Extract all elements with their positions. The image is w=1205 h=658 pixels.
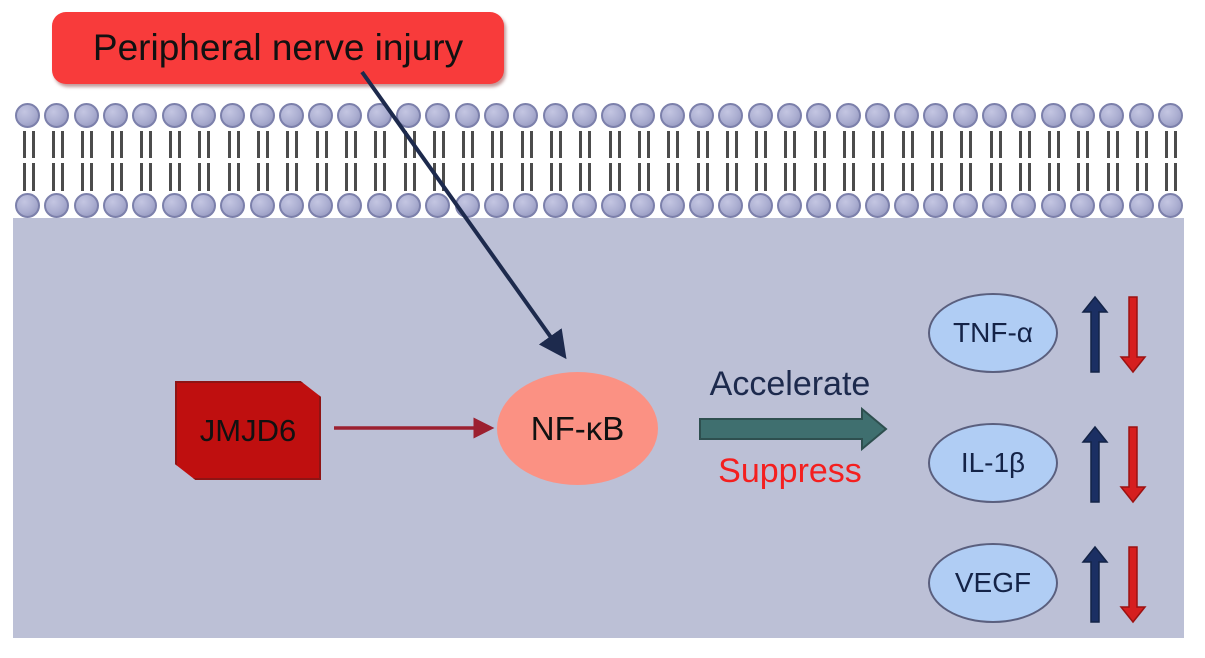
lipid-tail <box>207 131 210 158</box>
lipid-tail <box>81 163 84 191</box>
lipid-tail <box>325 131 328 158</box>
suppress-label: Suppress <box>688 452 892 491</box>
lipid-tail <box>433 131 436 158</box>
lipid-tail <box>530 131 533 158</box>
lipid-head <box>1158 193 1183 218</box>
lipid-tail <box>784 163 787 191</box>
lipid-tail <box>32 131 35 158</box>
lipid-tail <box>793 131 796 158</box>
lipid-tail <box>354 163 357 191</box>
lipid-tail <box>1077 131 1080 158</box>
lipid-tail <box>1116 131 1119 158</box>
lipid-tail <box>442 163 445 191</box>
lipid-tail <box>1116 163 1119 191</box>
lipid-head <box>982 103 1007 128</box>
pathway-diagram: Peripheral nerve injury JMJD6 NF-κB Acce… <box>0 0 1205 658</box>
lipid-tail <box>902 163 905 191</box>
lipid-tail <box>579 131 582 158</box>
lipid-head <box>44 193 69 218</box>
lipid-head <box>162 193 187 218</box>
lipid-tail <box>521 131 524 158</box>
lipid-head <box>865 103 890 128</box>
lipid-tail <box>500 131 503 158</box>
lipid-head <box>162 103 187 128</box>
lipid-tail <box>1136 131 1139 158</box>
lipid-head <box>15 103 40 128</box>
lipid-head <box>250 103 275 128</box>
lipid-tail <box>266 131 269 158</box>
lipid-tail <box>1107 131 1110 158</box>
lipid-tail <box>726 163 729 191</box>
lipid-tail <box>697 131 700 158</box>
tnf-alpha-node: TNF-α <box>928 293 1058 373</box>
lipid-head <box>806 103 831 128</box>
lipid-tail <box>491 163 494 191</box>
lipid-tail <box>383 163 386 191</box>
lipid-head <box>1041 193 1066 218</box>
lipid-tail <box>169 131 172 158</box>
lipid-tail <box>23 131 26 158</box>
lipid-head <box>250 193 275 218</box>
lipid-tail <box>169 163 172 191</box>
lipid-head <box>748 103 773 128</box>
lipid-tail <box>442 131 445 158</box>
lipid-tail <box>969 131 972 158</box>
lipid-tail <box>902 131 905 158</box>
lipid-tail <box>706 131 709 158</box>
lipid-head <box>1158 103 1183 128</box>
lipid-tail <box>295 131 298 158</box>
lipid-tail <box>843 131 846 158</box>
lipid-tail <box>1165 163 1168 191</box>
lipid-tail <box>404 131 407 158</box>
lipid-tail <box>491 131 494 158</box>
lipid-tail <box>588 131 591 158</box>
lipid-tail <box>609 131 612 158</box>
lipid-tail <box>940 163 943 191</box>
lipid-tail <box>111 131 114 158</box>
lipid-tail <box>550 131 553 158</box>
lipid-tail <box>676 163 679 191</box>
lipid-head <box>777 193 802 218</box>
lipid-head <box>1011 103 1036 128</box>
lipid-tail <box>433 163 436 191</box>
lipid-head <box>1129 193 1154 218</box>
lipid-tail <box>178 163 181 191</box>
vegf-label: VEGF <box>955 567 1031 599</box>
lipid-tail <box>960 131 963 158</box>
lipid-tail <box>1057 131 1060 158</box>
lipid-tail <box>706 163 709 191</box>
lipid-head <box>923 193 948 218</box>
lipid-head <box>337 103 362 128</box>
lipid-tail <box>178 131 181 158</box>
vegf-node: VEGF <box>928 543 1058 623</box>
lipid-tail <box>814 131 817 158</box>
jmjd6-node: JMJD6 <box>175 381 321 480</box>
lipid-head <box>1099 193 1124 218</box>
lipid-tail <box>413 163 416 191</box>
lipid-tail <box>1174 163 1177 191</box>
lipid-head <box>220 193 245 218</box>
lipid-tail <box>52 131 55 158</box>
lipid-tail <box>52 163 55 191</box>
lipid-head <box>396 103 421 128</box>
lipid-tail <box>228 163 231 191</box>
lipid-head <box>74 103 99 128</box>
lipid-tail <box>784 131 787 158</box>
lipid-tail <box>149 131 152 158</box>
lipid-head <box>103 193 128 218</box>
lipid-head <box>865 193 890 218</box>
lipid-head <box>484 103 509 128</box>
lipid-head <box>367 103 392 128</box>
lipid-head <box>748 193 773 218</box>
lipid-head <box>191 193 216 218</box>
lipid-tail <box>462 163 465 191</box>
lipid-tail <box>354 131 357 158</box>
lipid-head <box>455 103 480 128</box>
lipid-tail <box>198 163 201 191</box>
lipid-tail <box>345 131 348 158</box>
lipid-head <box>425 103 450 128</box>
lipid-head <box>836 193 861 218</box>
lipid-tail <box>1019 163 1022 191</box>
lipid-tail <box>207 163 210 191</box>
lipid-tail <box>793 163 796 191</box>
lipid-head <box>1070 193 1095 218</box>
lipid-tail <box>61 163 64 191</box>
lipid-head <box>982 193 1007 218</box>
nfkb-node: NF-κB <box>497 372 658 485</box>
lipid-tail <box>530 163 533 191</box>
lipid-head <box>308 103 333 128</box>
lipid-tail <box>931 163 934 191</box>
lipid-tail <box>61 131 64 158</box>
accelerate-label: Accelerate <box>688 365 892 404</box>
lipid-tail <box>500 163 503 191</box>
lipid-tail <box>579 163 582 191</box>
lipid-tail <box>999 131 1002 158</box>
lipid-tail <box>735 131 738 158</box>
lipid-tail <box>1048 131 1051 158</box>
lipid-head <box>513 193 538 218</box>
lipid-tail <box>1165 131 1168 158</box>
lipid-head <box>1041 103 1066 128</box>
lipid-tail-layer <box>13 129 1185 193</box>
lipid-tail <box>1086 163 1089 191</box>
lipid-head <box>572 103 597 128</box>
lipid-tail <box>266 163 269 191</box>
lipid-tail <box>1028 131 1031 158</box>
lipid-head <box>396 193 421 218</box>
lipid-tail <box>588 163 591 191</box>
lipid-tail <box>960 163 963 191</box>
lipid-tail <box>559 131 562 158</box>
lipid-head <box>367 193 392 218</box>
lipid-tail <box>1107 163 1110 191</box>
lipid-tail <box>140 131 143 158</box>
lipid-tail <box>667 163 670 191</box>
lipid-tail <box>316 163 319 191</box>
lipid-tail <box>374 163 377 191</box>
lipid-head <box>103 103 128 128</box>
lipid-head <box>601 103 626 128</box>
tnf-alpha-label: TNF-α <box>953 317 1033 349</box>
lipid-tail <box>697 163 700 191</box>
lipid-head <box>220 103 245 128</box>
lipid-tail <box>726 131 729 158</box>
lipid-tail <box>647 131 650 158</box>
lipid-tail <box>413 131 416 158</box>
lipid-tail <box>90 131 93 158</box>
lipid-tail <box>1086 131 1089 158</box>
lipid-tail <box>140 163 143 191</box>
lipid-tail <box>764 163 767 191</box>
lipid-head <box>1099 103 1124 128</box>
lipid-head <box>1129 103 1154 128</box>
lipid-tail <box>1136 163 1139 191</box>
lipid-head <box>660 103 685 128</box>
lipid-head <box>543 103 568 128</box>
lipid-tail <box>638 163 641 191</box>
lipid-head <box>630 103 655 128</box>
lipid-head-row-inner <box>13 193 1185 219</box>
lipid-tail <box>911 131 914 158</box>
lipid-tail <box>823 163 826 191</box>
lipid-tail <box>471 131 474 158</box>
lipid-tail <box>559 163 562 191</box>
lipid-tail <box>881 163 884 191</box>
lipid-tail <box>638 131 641 158</box>
lipid-tail <box>228 131 231 158</box>
lipid-head <box>718 193 743 218</box>
lipid-head <box>279 103 304 128</box>
lipid-tail <box>81 131 84 158</box>
lipid-tail <box>383 131 386 158</box>
lipid-tail <box>667 131 670 158</box>
lipid-tail <box>852 163 855 191</box>
lipid-tail <box>120 163 123 191</box>
lipid-tail <box>257 163 260 191</box>
lipid-tail <box>149 163 152 191</box>
lipid-tail <box>969 163 972 191</box>
lipid-tail <box>316 131 319 158</box>
lipid-head <box>894 103 919 128</box>
lipid-head <box>953 103 978 128</box>
lipid-tail <box>237 131 240 158</box>
lipid-head <box>337 193 362 218</box>
lipid-tail <box>23 163 26 191</box>
lipid-tail <box>286 163 289 191</box>
lipid-tail <box>1057 163 1060 191</box>
jmjd6-label: JMJD6 <box>200 413 296 449</box>
lipid-tail <box>90 163 93 191</box>
lipid-tail <box>647 163 650 191</box>
lipid-tail <box>618 131 621 158</box>
lipid-head <box>74 193 99 218</box>
peripheral-nerve-injury-label: Peripheral nerve injury <box>52 12 504 84</box>
lipid-head <box>455 193 480 218</box>
lipid-head <box>44 103 69 128</box>
lipid-tail <box>852 131 855 158</box>
lipid-tail <box>872 131 875 158</box>
lipid-head <box>572 193 597 218</box>
lipid-head <box>660 193 685 218</box>
lipid-tail <box>735 163 738 191</box>
lipid-tail <box>1174 131 1177 158</box>
lipid-head <box>15 193 40 218</box>
lipid-tail <box>1077 163 1080 191</box>
lipid-tail <box>1048 163 1051 191</box>
injury-label-text: Peripheral nerve injury <box>93 27 463 69</box>
lipid-head <box>601 193 626 218</box>
lipid-tail <box>198 131 201 158</box>
lipid-tail <box>404 163 407 191</box>
lipid-tail <box>931 131 934 158</box>
lipid-tail <box>462 131 465 158</box>
lipid-tail <box>286 131 289 158</box>
lipid-tail <box>295 163 298 191</box>
lipid-tail <box>374 131 377 158</box>
lipid-head <box>513 103 538 128</box>
il-1-beta-node: IL-1β <box>928 423 1058 503</box>
lipid-tail <box>111 163 114 191</box>
lipid-tail <box>325 163 328 191</box>
lipid-tail <box>764 131 767 158</box>
lipid-tail <box>823 131 826 158</box>
lipid-tail <box>345 163 348 191</box>
lipid-head <box>923 103 948 128</box>
lipid-tail <box>990 163 993 191</box>
lipid-tail <box>755 163 758 191</box>
lipid-head <box>308 193 333 218</box>
lipid-tail <box>32 163 35 191</box>
lipid-tail <box>521 163 524 191</box>
lipid-head <box>1070 103 1095 128</box>
lipid-head <box>689 193 714 218</box>
lipid-tail <box>550 163 553 191</box>
lipid-head <box>630 193 655 218</box>
lipid-head <box>953 193 978 218</box>
lipid-head <box>425 193 450 218</box>
lipid-head <box>836 103 861 128</box>
lipid-tail <box>1145 131 1148 158</box>
lipid-head <box>132 193 157 218</box>
lipid-head <box>806 193 831 218</box>
lipid-head <box>689 103 714 128</box>
lipid-tail <box>1145 163 1148 191</box>
lipid-head <box>777 103 802 128</box>
lipid-tail <box>755 131 758 158</box>
lipid-tail <box>814 163 817 191</box>
lipid-tail <box>618 163 621 191</box>
lipid-tail <box>872 163 875 191</box>
plasma-membrane-bilayer <box>13 103 1185 219</box>
lipid-head <box>279 193 304 218</box>
lipid-tail <box>257 131 260 158</box>
il-1-beta-label: IL-1β <box>961 447 1025 479</box>
lipid-head <box>894 193 919 218</box>
lipid-head <box>1011 193 1036 218</box>
lipid-tail <box>990 131 993 158</box>
lipid-head <box>132 103 157 128</box>
lipid-tail <box>1028 163 1031 191</box>
lipid-tail <box>676 131 679 158</box>
lipid-head <box>484 193 509 218</box>
lipid-tail <box>1019 131 1022 158</box>
lipid-head <box>191 103 216 128</box>
lipid-tail <box>999 163 1002 191</box>
lipid-tail <box>471 163 474 191</box>
lipid-head-row-outer <box>13 103 1185 129</box>
lipid-tail <box>881 131 884 158</box>
lipid-head <box>543 193 568 218</box>
nfkb-label: NF-κB <box>531 410 625 448</box>
lipid-tail <box>940 131 943 158</box>
lipid-tail <box>120 131 123 158</box>
lipid-tail <box>237 163 240 191</box>
lipid-tail <box>609 163 612 191</box>
lipid-tail <box>911 163 914 191</box>
lipid-tail <box>843 163 846 191</box>
lipid-head <box>718 103 743 128</box>
